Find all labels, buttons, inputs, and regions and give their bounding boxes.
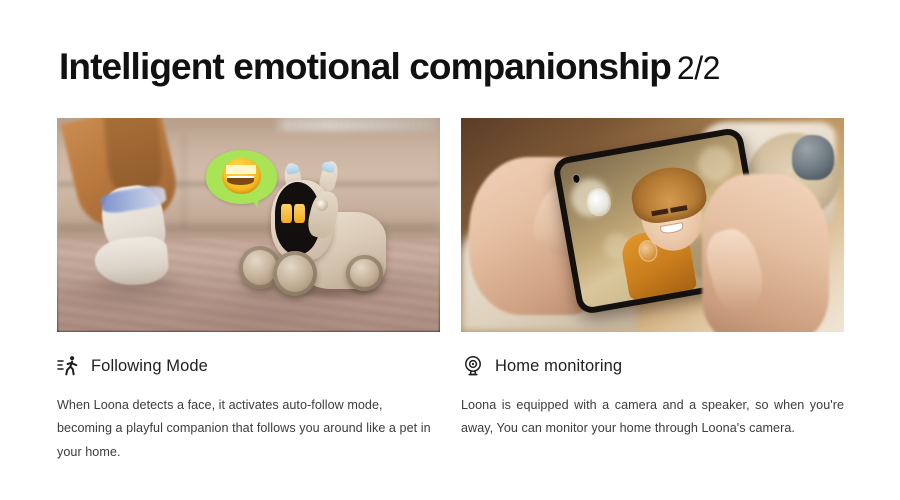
home-monitoring-photo	[461, 118, 844, 332]
page-counter: 2/2	[677, 52, 720, 84]
emoji-star-eyes	[226, 165, 257, 174]
walking-person-icon	[57, 354, 81, 378]
caption-label-home-monitoring: Home monitoring	[495, 358, 622, 375]
coffee-cup	[792, 135, 834, 180]
robot-wheel-middle	[273, 251, 317, 296]
robot-eye-right	[294, 204, 305, 223]
feature-columns: Following Mode When Loona detects a face…	[57, 118, 844, 476]
sofa-cushion-divide	[183, 135, 185, 229]
speech-bubble-tail	[250, 195, 261, 209]
caption-home-monitoring: Home monitoring	[461, 354, 844, 378]
page-title: Intelligent emotional companionship 2/2	[59, 48, 720, 85]
feature-column-following-mode: Following Mode When Loona detects a face…	[57, 118, 440, 476]
body-text-home-monitoring: Loona is equipped with a camera and a sp…	[461, 394, 844, 441]
feature-column-home-monitoring: Home monitoring Loona is equipped with a…	[461, 118, 844, 476]
page-title-text: Intelligent emotional companionship	[59, 48, 671, 85]
caption-label-following-mode: Following Mode	[91, 358, 208, 375]
loona-following-photo	[57, 118, 440, 332]
caption-following-mode: Following Mode	[57, 354, 440, 378]
robot-shoulder-knob	[316, 199, 328, 211]
robot-eye-left	[281, 204, 292, 223]
robot-wheel-rear	[346, 255, 382, 291]
body-text-following-mode: When Loona detects a face, it activates …	[57, 394, 440, 464]
webcam-icon	[461, 354, 485, 378]
slide-root: Intelligent emotional companionship 2/2	[0, 0, 900, 500]
